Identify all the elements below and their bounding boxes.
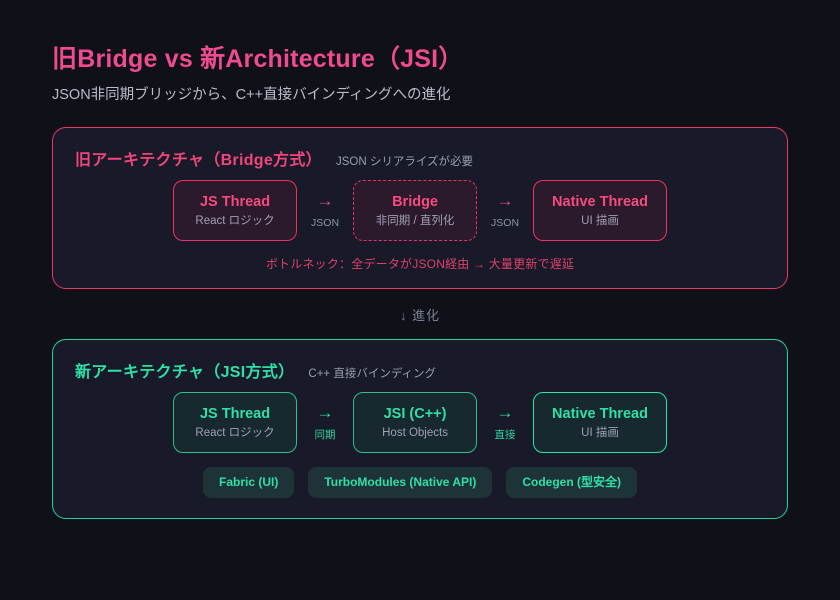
node-subtitle: UI 描画 <box>552 214 648 228</box>
chip-fabric[interactable]: Fabric (UI) <box>203 467 294 497</box>
node-js-thread-old[interactable]: JS Thread React ロジック <box>173 180 297 242</box>
feature-chip-row: Fabric (UI) TurboModules (Native API) Co… <box>75 467 765 497</box>
page-title: 旧Bridge vs 新Architecture（JSI） <box>52 44 788 74</box>
connector-label: JSON <box>311 218 339 229</box>
node-title: Native Thread <box>552 405 648 423</box>
chip-codegen[interactable]: Codegen (型安全) <box>506 467 637 497</box>
old-panel-note: JSON シリアライズが必要 <box>336 153 473 169</box>
node-title: Bridge <box>372 193 458 211</box>
connector-bridge-to-native: → JSON <box>477 192 533 229</box>
new-architecture-panel: 新アーキテクチャ（JSI方式） C++ 直接バインディング JS Thread … <box>52 339 788 519</box>
bottleneck-note: ボトルネック：全データがJSON経由 → 大量更新で遅延 <box>75 255 765 272</box>
node-jsi[interactable]: JSI (C++) Host Objects <box>353 392 477 454</box>
node-subtitle: UI 描画 <box>552 426 648 440</box>
slide-root: 旧Bridge vs 新Architecture（JSI） JSON非同期ブリッ… <box>0 0 840 600</box>
old-panel-title: 旧アーキテクチャ（Bridge方式） <box>75 146 322 170</box>
arrow-right-icon: → <box>317 192 334 209</box>
node-subtitle: 非同期 / 直列化 <box>372 214 458 228</box>
old-flow-row: JS Thread React ロジック → JSON Bridge 非同期 /… <box>75 180 765 242</box>
node-title: Native Thread <box>552 193 648 211</box>
new-panel-note: C++ 直接バインディング <box>308 365 436 381</box>
node-subtitle: Host Objects <box>372 426 458 440</box>
node-title: JS Thread <box>192 405 278 423</box>
old-panel-header: 旧アーキテクチャ（Bridge方式） JSON シリアライズが必要 <box>75 146 765 170</box>
connector-js-to-jsi: → 同期 <box>297 404 353 441</box>
connector-label: 直接 <box>495 430 516 441</box>
new-panel-header: 新アーキテクチャ（JSI方式） C++ 直接バインディング <box>75 358 765 382</box>
node-subtitle: React ロジック <box>192 426 278 440</box>
node-subtitle: React ロジック <box>192 214 278 228</box>
arrow-right-icon: → <box>317 404 334 421</box>
chip-turbomodules[interactable]: TurboModules (Native API) <box>308 467 492 497</box>
new-flow-row: JS Thread React ロジック → 同期 JSI (C++) Host… <box>75 392 765 454</box>
arrow-right-icon: → <box>497 404 514 421</box>
node-bridge[interactable]: Bridge 非同期 / 直列化 <box>353 180 477 242</box>
connector-jsi-to-native: → 直接 <box>477 404 533 441</box>
node-title: JS Thread <box>192 193 278 211</box>
node-js-thread-new[interactable]: JS Thread React ロジック <box>173 392 297 454</box>
evolution-marker: ↓ 進化 <box>52 289 788 339</box>
connector-label: JSON <box>491 218 519 229</box>
page-subtitle: JSON非同期ブリッジから、C++直接バインディングへの進化 <box>52 86 788 105</box>
node-native-thread-new[interactable]: Native Thread UI 描画 <box>533 392 667 454</box>
new-panel-title: 新アーキテクチャ（JSI方式） <box>75 358 294 382</box>
connector-js-to-bridge: → JSON <box>297 192 353 229</box>
node-title: JSI (C++) <box>372 405 458 423</box>
node-native-thread-old[interactable]: Native Thread UI 描画 <box>533 180 667 242</box>
old-architecture-panel: 旧アーキテクチャ（Bridge方式） JSON シリアライズが必要 JS Thr… <box>52 127 788 289</box>
connector-label: 同期 <box>315 430 336 441</box>
arrow-right-icon: → <box>497 192 514 209</box>
